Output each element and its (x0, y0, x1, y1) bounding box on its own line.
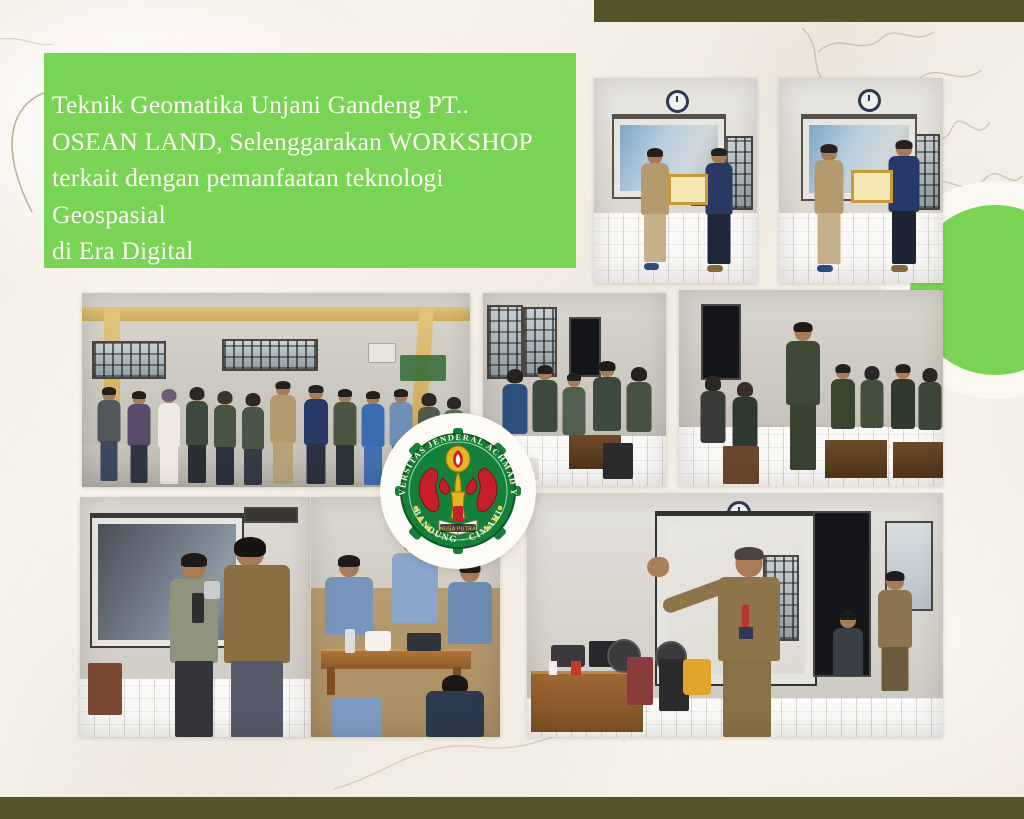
logo-inner-text: NUSA PUTRA (440, 526, 476, 532)
universitas-jenderal-achmad-yani-logo: UNIVERSITAS JENDERAL ACHMAD YANI BANDUNG… (387, 420, 529, 562)
photo-certificate-handover-1: Penyerahan sertifikat penghargaan di rua… (594, 78, 757, 283)
university-logo-medallion: UNIVERSITAS JENDERAL ACHMAD YANI BANDUNG… (380, 413, 536, 569)
olive-bar-bottom (0, 797, 1024, 819)
photo-audience-discussion: Sesi diskusi dan tanya jawab peserta wor… (679, 290, 943, 486)
headline-text: Teknik Geomatika Unjani Gandeng PT.. OSE… (52, 87, 546, 270)
photo-certificate-handover-2: Penyerahan sertifikat penghargaan kepada… (779, 78, 943, 283)
headline-banner: Teknik Geomatika Unjani Gandeng PT.. OSE… (44, 53, 576, 268)
poster-canvas: Teknik Geomatika Unjani Gandeng PT.. OSE… (0, 0, 1024, 819)
photo-equipment-demonstration: Demonstrasi alat survei di depan layar p… (80, 497, 310, 737)
olive-bar-top-right (594, 0, 1024, 22)
photo-speaker-presenting: Narasumber menyampaikan materi workshop (527, 493, 943, 737)
